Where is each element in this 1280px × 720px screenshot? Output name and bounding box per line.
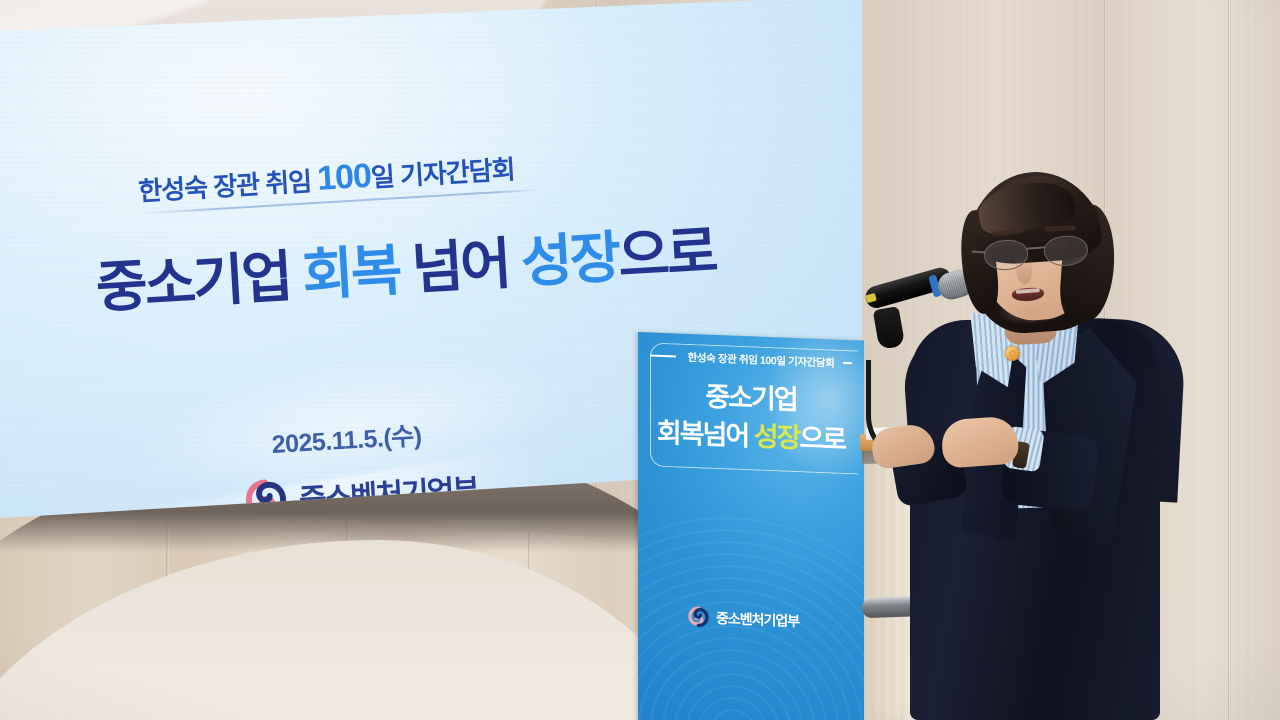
- event-banner: 한성숙 장관 취임 100일 기자간담회 중소기업 회복넘어 성장으로 중소벤처…: [638, 332, 864, 720]
- screen-headline-highlight-recovery: 회복: [301, 238, 402, 307]
- speaker-hand-right: [940, 415, 1019, 468]
- screen-date: 2025.11.5.(수): [271, 416, 423, 461]
- screen-subtitle-number: 100: [316, 157, 372, 198]
- banner-org-name: 중소벤처기업부: [716, 607, 799, 630]
- photo-scene: 한성숙 장관 취임 100일 기자간담회 중소기업 회복 넘어 성장으로 202…: [0, 0, 1280, 720]
- banner-subtitle-number: 100: [760, 355, 776, 368]
- speaker-chin: [997, 296, 1069, 327]
- screen-headline: 중소기업 회복 넘어 성장으로: [93, 206, 717, 324]
- banner-highlight-growth: 성장: [754, 421, 800, 453]
- wall-seam: [1228, 0, 1231, 720]
- taegeuk-icon: [688, 606, 709, 628]
- lapel-pin-icon: [1005, 346, 1020, 361]
- screen-headline-highlight-growth: 성장: [519, 225, 620, 294]
- banner-organization: 중소벤처기업부: [688, 606, 799, 631]
- speaker-figure: [900, 170, 1190, 720]
